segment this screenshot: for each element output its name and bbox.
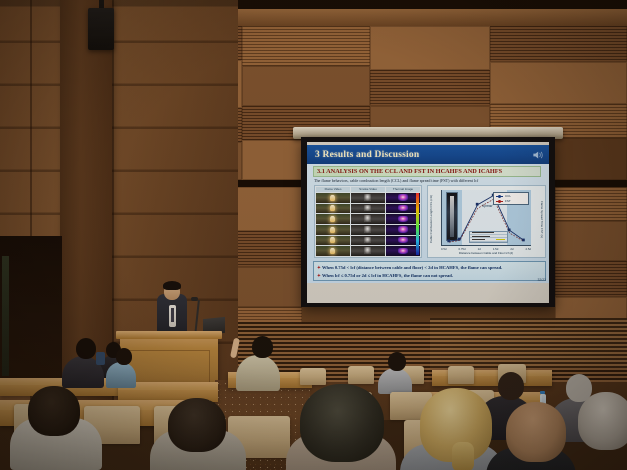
bullet-marker: ✦: [317, 273, 321, 278]
wall-seam: [112, 0, 114, 400]
grid-cell: [351, 204, 385, 214]
ceiling-speaker: [88, 8, 114, 50]
image-column-thermal: Thermal Image: [386, 187, 420, 256]
seat: [300, 368, 326, 385]
chart-plot-area: Spread CCL FST: [441, 190, 531, 246]
side-doorway: [0, 236, 62, 386]
water-bottle-cap: [540, 391, 545, 394]
grid-cell: [351, 225, 385, 235]
grid-cell: [386, 214, 420, 224]
grid-cell: [316, 204, 350, 214]
slide-bullet: ✦ When lcf ≤ 0.75d or 2d ≤ lcf in HCAHFS…: [317, 272, 542, 280]
grid-cell: [351, 214, 385, 224]
image-column-header: Smoke Video: [351, 187, 385, 192]
legend-label-fst: FST: [505, 199, 511, 204]
slide-bullet-box: ✦ When 0.75d < lcf (distance between cab…: [313, 261, 546, 281]
slide-image-grid: Flame Video Smoke Video: [314, 185, 422, 258]
legend-marker-ccl: [496, 196, 503, 197]
slide-title: 3 Results and Discussion: [315, 150, 419, 160]
presenter-tie: [171, 308, 174, 322]
grid-cell: [386, 236, 420, 246]
chart-annotation: Spread: [482, 204, 492, 208]
grid-cell: [386, 225, 420, 235]
grid-cell: [316, 214, 350, 224]
chart-x-axis-label: Distance between Cable and Floor lcf (d): [441, 251, 531, 255]
grid-cell: [316, 246, 350, 256]
speaker-icon: [532, 150, 543, 160]
doorway-light: [2, 256, 9, 376]
presenter-hair: [163, 281, 181, 290]
slide-page-number: 32/23: [538, 278, 547, 282]
grid-cell: [386, 193, 420, 203]
projection-screen: 3 Results and Discussion 3.1 ANALYSIS ON…: [301, 137, 555, 307]
grid-cell: [316, 236, 350, 246]
chart-inset-legend: [469, 231, 508, 243]
microphone-head: [191, 297, 198, 301]
image-column-flame: Flame Video: [316, 187, 350, 256]
podium-top-surface: [116, 331, 222, 339]
grid-cell: [351, 193, 385, 203]
wall-slat-band-right: [430, 318, 627, 368]
image-column-header: Flame Video: [316, 187, 350, 192]
bullet-marker: ✦: [317, 265, 321, 270]
legend-marker-fst: [496, 201, 503, 202]
grid-cell: [316, 193, 350, 203]
seat: [348, 366, 374, 384]
chart-y2-axis-label: Flame Spread Time FST (s): [536, 194, 544, 244]
slide-section-heading: 3.1 ANALYSIS ON THE CCL AND FST IN HCAHF…: [313, 166, 541, 177]
slide-bullet: ✦ When 0.75d < lcf (distance between cab…: [317, 264, 542, 272]
slide-section-heading-text: 3.1 ANALYSIS ON THE CCL AND FST IN HCAHF…: [317, 168, 502, 175]
image-column-header: Thermal Image: [386, 187, 420, 192]
seat: [448, 366, 474, 384]
presentation-slide: 3 Results and Discussion 3.1 ANALYSIS ON…: [307, 145, 549, 283]
screen-frame: 3 Results and Discussion 3.1 ANALYSIS ON…: [301, 137, 555, 307]
grid-cell: [316, 225, 350, 235]
ponytail: [452, 442, 474, 470]
image-column-smoke: Smoke Video: [351, 187, 385, 256]
bullet-text: When lcf ≤ 0.75d or 2d ≤ lcf in HCAHFS, …: [322, 273, 453, 278]
grid-cell: [351, 246, 385, 256]
smartphone: [96, 352, 105, 365]
slide-chart: Cable Combustion Length CCL (cm) Flame S…: [427, 185, 546, 258]
bullet-text: When 0.75d < lcf (distance between cable…: [322, 265, 502, 270]
chart-legend: CCL FST: [493, 192, 529, 205]
slide-title-bar: 3 Results and Discussion: [307, 145, 549, 164]
lecture-hall-photo: 3 Results and Discussion 3.1 ANALYSIS ON…: [0, 0, 627, 470]
grid-cell: [386, 204, 420, 214]
grid-cell: [351, 236, 385, 246]
chart-y-axis-label: Cable Combustion Length CCL (cm): [429, 194, 437, 244]
screen-surface: 3 Results and Discussion 3.1 ANALYSIS ON…: [307, 142, 549, 303]
slide-caption: The flame behaviors, cable combustion le…: [314, 178, 546, 183]
grid-cell: [386, 246, 420, 256]
thermal-colorbar: [416, 193, 419, 255]
